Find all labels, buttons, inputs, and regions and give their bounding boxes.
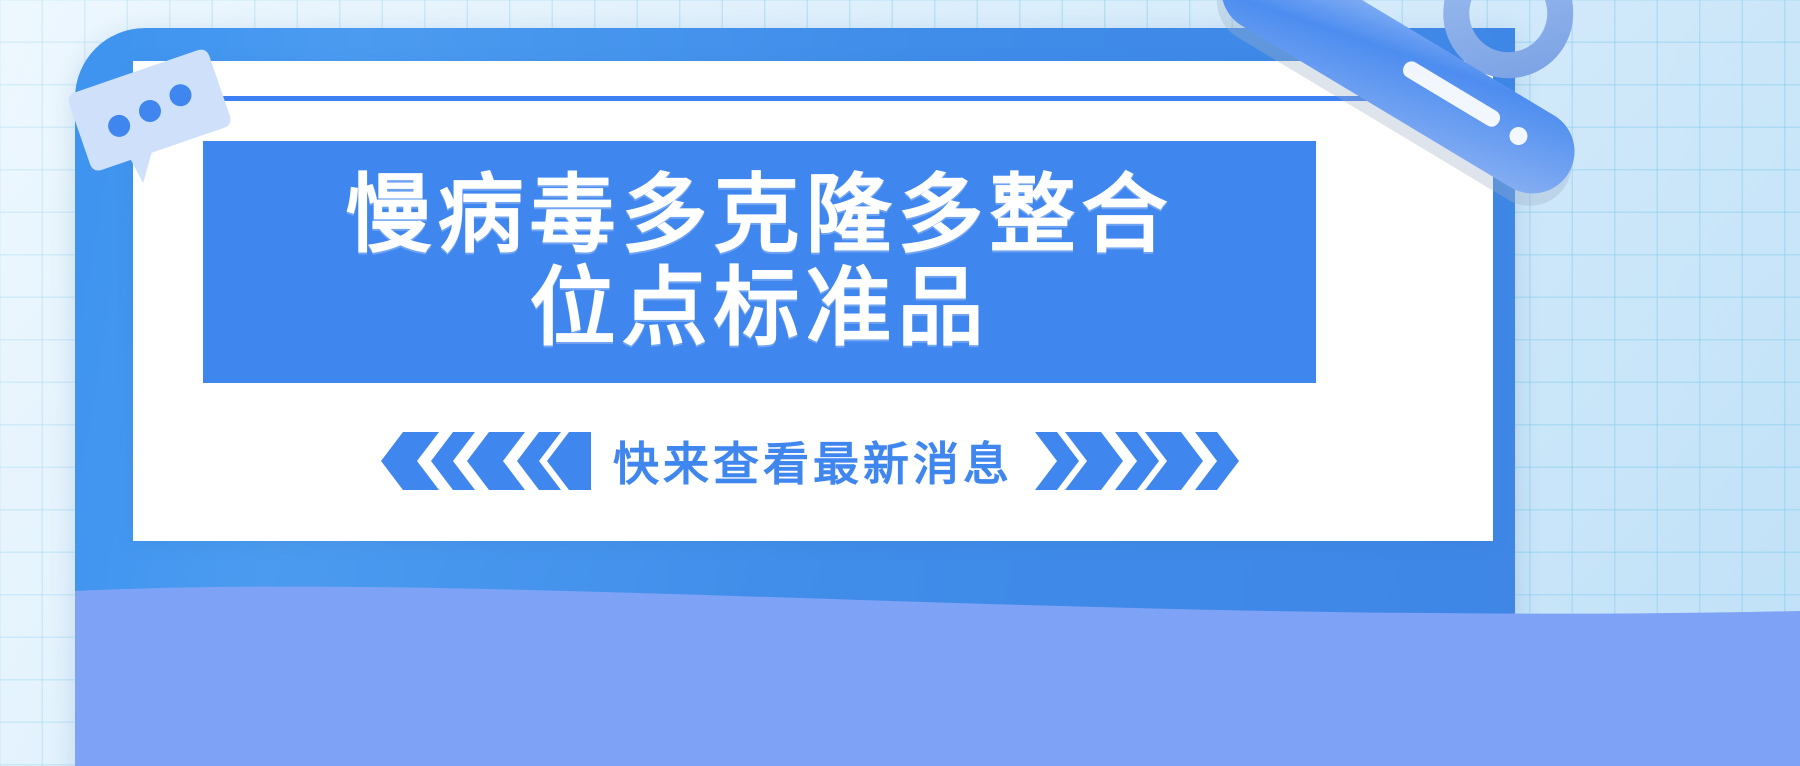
magnifier-icon (1190, 0, 1610, 208)
title-block: 慢病毒多克隆多整合 位点标准品 (203, 141, 1316, 383)
bottom-wave-overlay (0, 476, 1800, 766)
title-line-1: 慢病毒多克隆多整合 (346, 169, 1174, 262)
promo-banner: 慢病毒多克隆多整合 位点标准品 快来查看最新消息 (0, 0, 1800, 766)
title-line-2: 位点标准品 (530, 262, 990, 355)
